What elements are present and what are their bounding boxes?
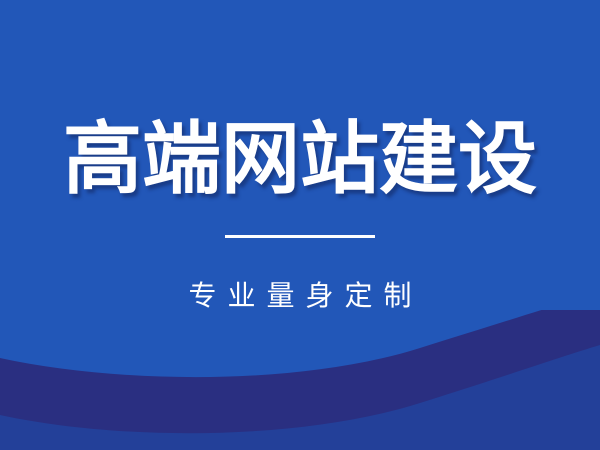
page-subtitle: 专业量身定制 [177,280,422,312]
promo-banner: 高端网站建设 专业量身定制 [0,0,600,450]
title-divider [225,235,375,238]
banner-content: 高端网站建设 专业量身定制 [0,0,600,450]
page-title: 高端网站建设 [63,113,537,205]
